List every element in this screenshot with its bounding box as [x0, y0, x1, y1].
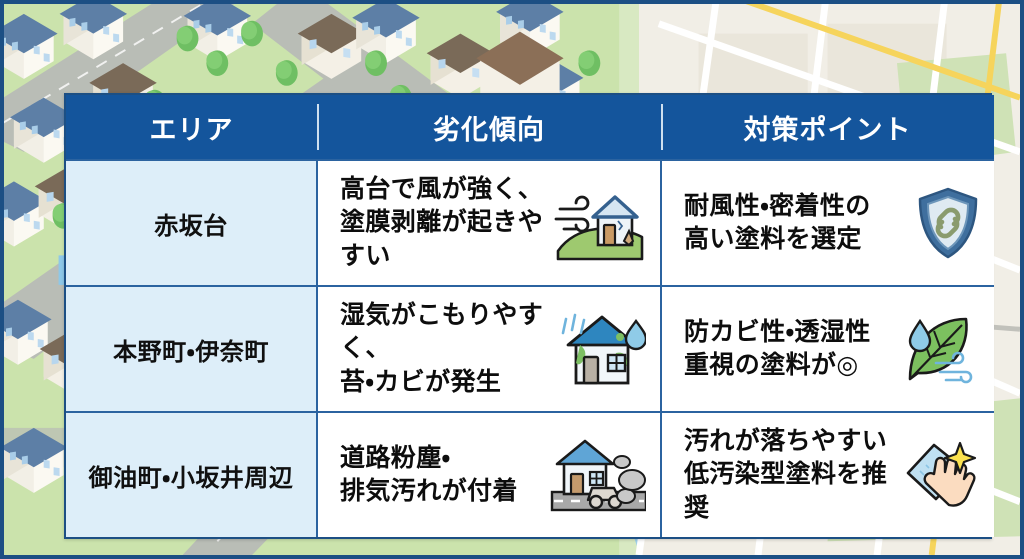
point-cell: 汚れが落ちやすい 低汚染型塗料を推奨	[661, 412, 994, 537]
area-cell: 御油町・小坂井周辺	[66, 412, 317, 537]
table-row: 御油町・小坂井周辺 道路粉塵・ 排気汚れが付着	[66, 412, 994, 537]
shield-chain-link-icon	[916, 186, 980, 260]
trend-text: 湿気がこもりやすく、 苔・カビが発生	[340, 299, 550, 400]
area-cell: 赤坂台	[66, 160, 317, 286]
table-grid: エリア 劣化傾向 対策ポイント 赤坂台 高台で風が強く、 塗膜剥離が起きやすい	[66, 95, 994, 537]
column-header-area: エリア	[66, 95, 317, 160]
table-row: 本野町・伊奈町 湿気がこもりやすく、 苔・カビが発生	[66, 286, 994, 412]
table-row: 赤坂台 高台で風が強く、 塗膜剥離が起きやすい	[66, 160, 994, 286]
house-on-hill-wind-peeling-icon	[554, 185, 646, 261]
area-deterioration-table: エリア 劣化傾向 対策ポイント 赤坂台 高台で風が強く、 塗膜剥離が起きやすい	[64, 93, 992, 539]
column-header-trend: 劣化傾向	[317, 95, 661, 160]
hand-wiping-cloth-sparkle-icon	[902, 437, 980, 513]
trend-cell: 湿気がこもりやすく、 苔・カビが発生	[317, 286, 661, 412]
screenshot-root: エリア 劣化傾向 対策ポイント 赤坂台 高台で風が強く、 塗膜剥離が起きやすい	[0, 0, 1024, 559]
point-text: 防カビ性・透湿性 重視の塗料が◎	[684, 316, 871, 383]
house-mold-moisture-droplet-icon	[558, 309, 646, 389]
trend-cell: 道路粉塵・ 排気汚れが付着	[317, 412, 661, 537]
house-road-car-exhaust-icon	[550, 436, 646, 514]
trend-text: 道路粉塵・ 排気汚れが付着	[340, 442, 518, 509]
point-text: 汚れが落ちやすい 低汚染型塗料を推奨	[684, 425, 894, 526]
table-header-row: エリア 劣化傾向 対策ポイント	[66, 95, 994, 160]
point-cell: 耐風性・密着性の 高い塗料を選定	[661, 160, 994, 286]
trend-cell: 高台で風が強く、 塗膜剥離が起きやすい	[317, 160, 661, 286]
column-header-point: 対策ポイント	[661, 95, 994, 160]
table-body: 赤坂台 高台で風が強く、 塗膜剥離が起きやすい	[66, 160, 994, 537]
area-cell: 本野町・伊奈町	[66, 286, 317, 412]
point-cell: 防カビ性・透湿性 重視の塗料が◎	[661, 286, 994, 412]
table-header: エリア 劣化傾向 対策ポイント	[66, 95, 994, 160]
leaf-droplet-breeze-icon	[900, 313, 980, 385]
point-text: 耐風性・密着性の 高い塗料を選定	[684, 190, 871, 257]
trend-text: 高台で風が強く、 塗膜剥離が起きやすい	[340, 173, 546, 274]
